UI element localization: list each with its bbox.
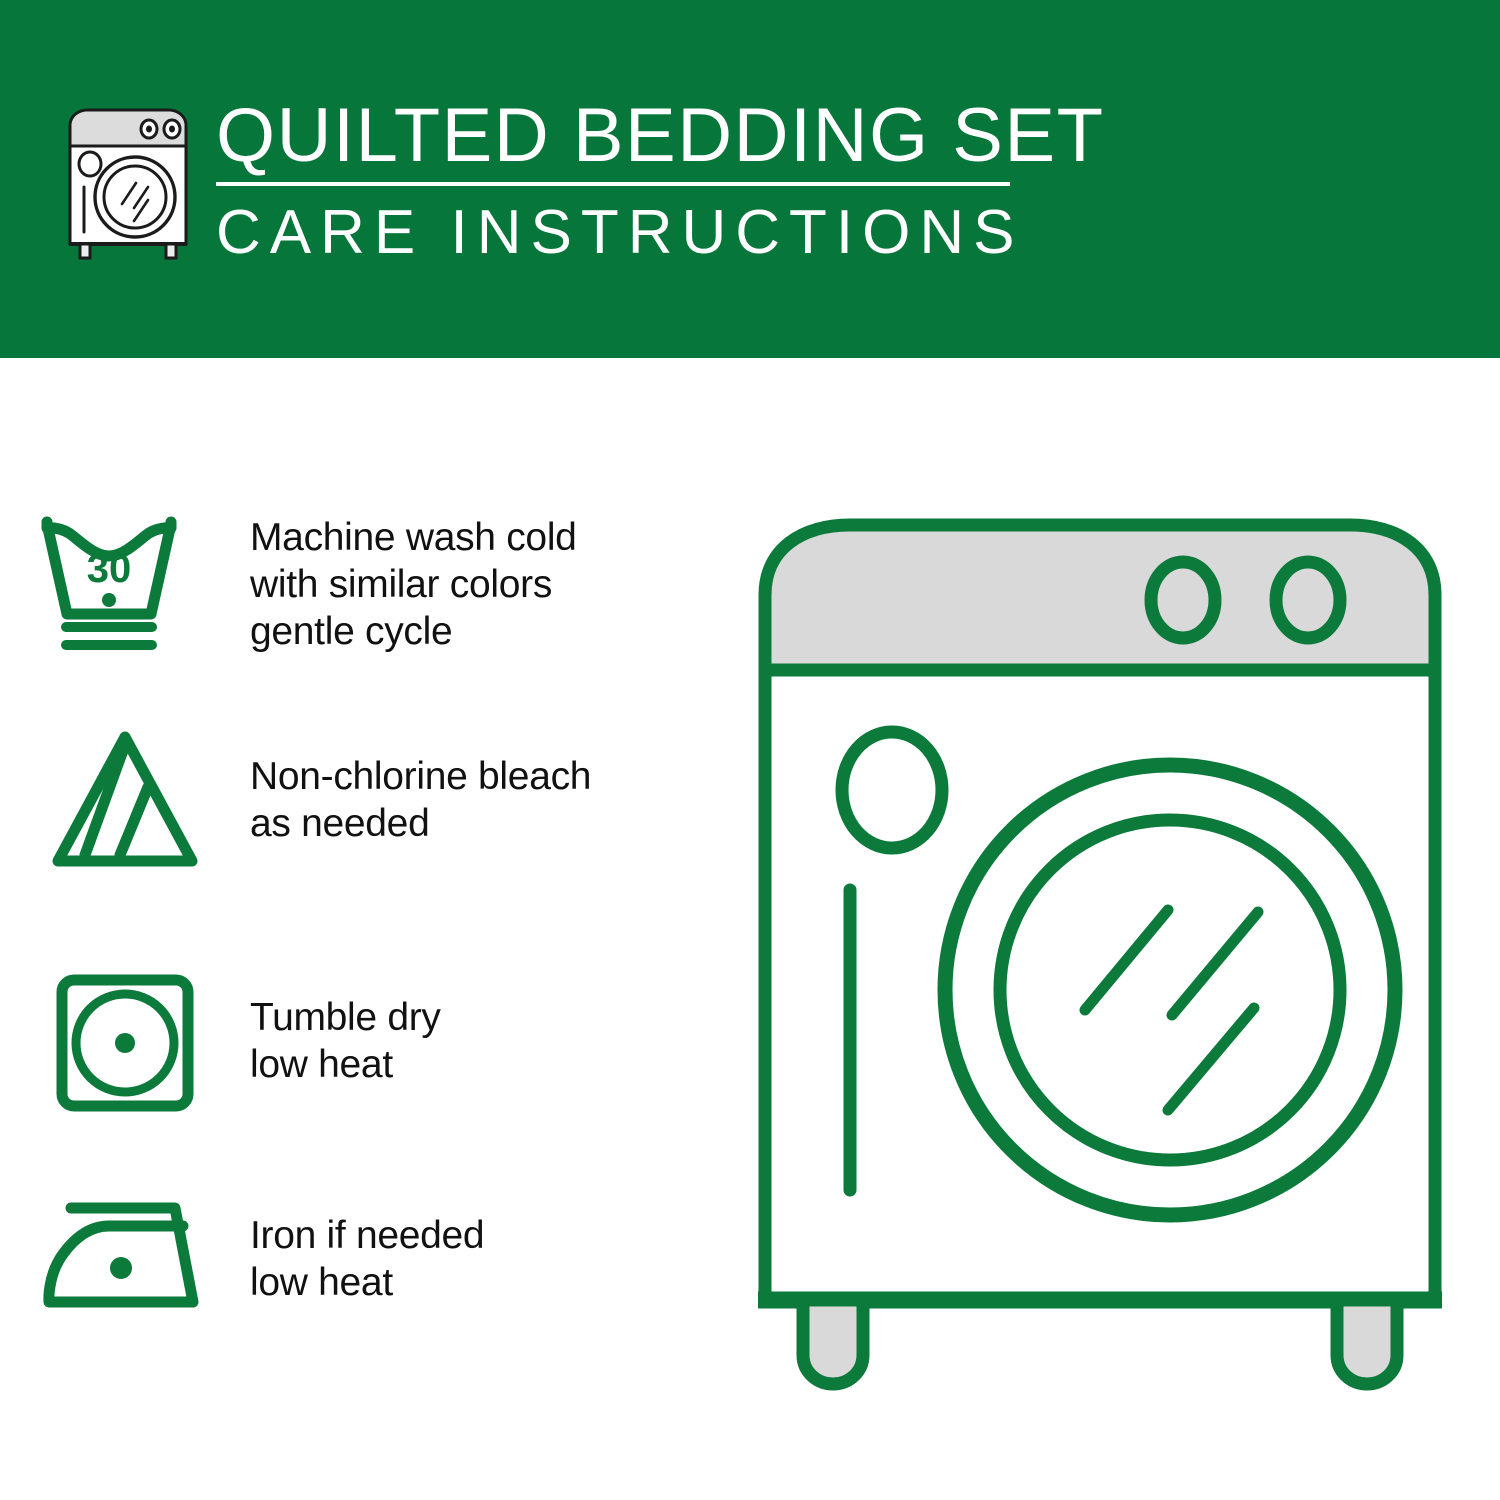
iron-low-heat-icon [0, 1190, 250, 1322]
care-instruction-list: 30 Machine wash cold with similar colors… [0, 358, 730, 1500]
care-label-bleach: Non-chlorine bleach as needed [250, 723, 591, 847]
header-text-block: QUILTED BEDDING SET CARE INSTRUCTIONS [216, 96, 1016, 266]
care-label-machine-wash: Machine wash cold with similar colors ge… [250, 508, 577, 655]
page-title: QUILTED BEDDING SET [216, 96, 1016, 176]
title-divider [216, 182, 1010, 186]
care-label-tumble-dry: Tumble dry low heat [250, 966, 441, 1088]
door-diagonal-lines [1085, 910, 1258, 1110]
care-instructions-page: QUILTED BEDDING SET CARE INSTRUCTIONS 30 [0, 0, 1500, 1500]
detergent-circle [842, 732, 942, 848]
door-outer-ring [945, 765, 1395, 1215]
header-banner: QUILTED BEDDING SET CARE INSTRUCTIONS [0, 0, 1500, 358]
leg-right [1337, 1300, 1397, 1384]
washing-machine-logo-icon [62, 104, 198, 262]
care-row-bleach: Non-chlorine bleach as needed [0, 723, 730, 875]
wash-tub-30-gentle-icon: 30 [0, 508, 250, 655]
page-subtitle: CARE INSTRUCTIONS [216, 200, 1016, 266]
wash-temperature-value: 30 [87, 547, 132, 591]
non-chlorine-bleach-triangle-icon [0, 723, 250, 875]
care-row-machine-wash: 30 Machine wash cold with similar colors… [0, 508, 730, 655]
tumble-dry-low-heat-icon [0, 966, 250, 1118]
care-row-iron: Iron if needed low heat [0, 1190, 730, 1322]
care-label-iron: Iron if needed low heat [250, 1190, 484, 1306]
leg-left [803, 1300, 863, 1384]
front-load-washing-machine-illustration [740, 500, 1460, 1430]
care-row-tumble-dry: Tumble dry low heat [0, 966, 730, 1118]
